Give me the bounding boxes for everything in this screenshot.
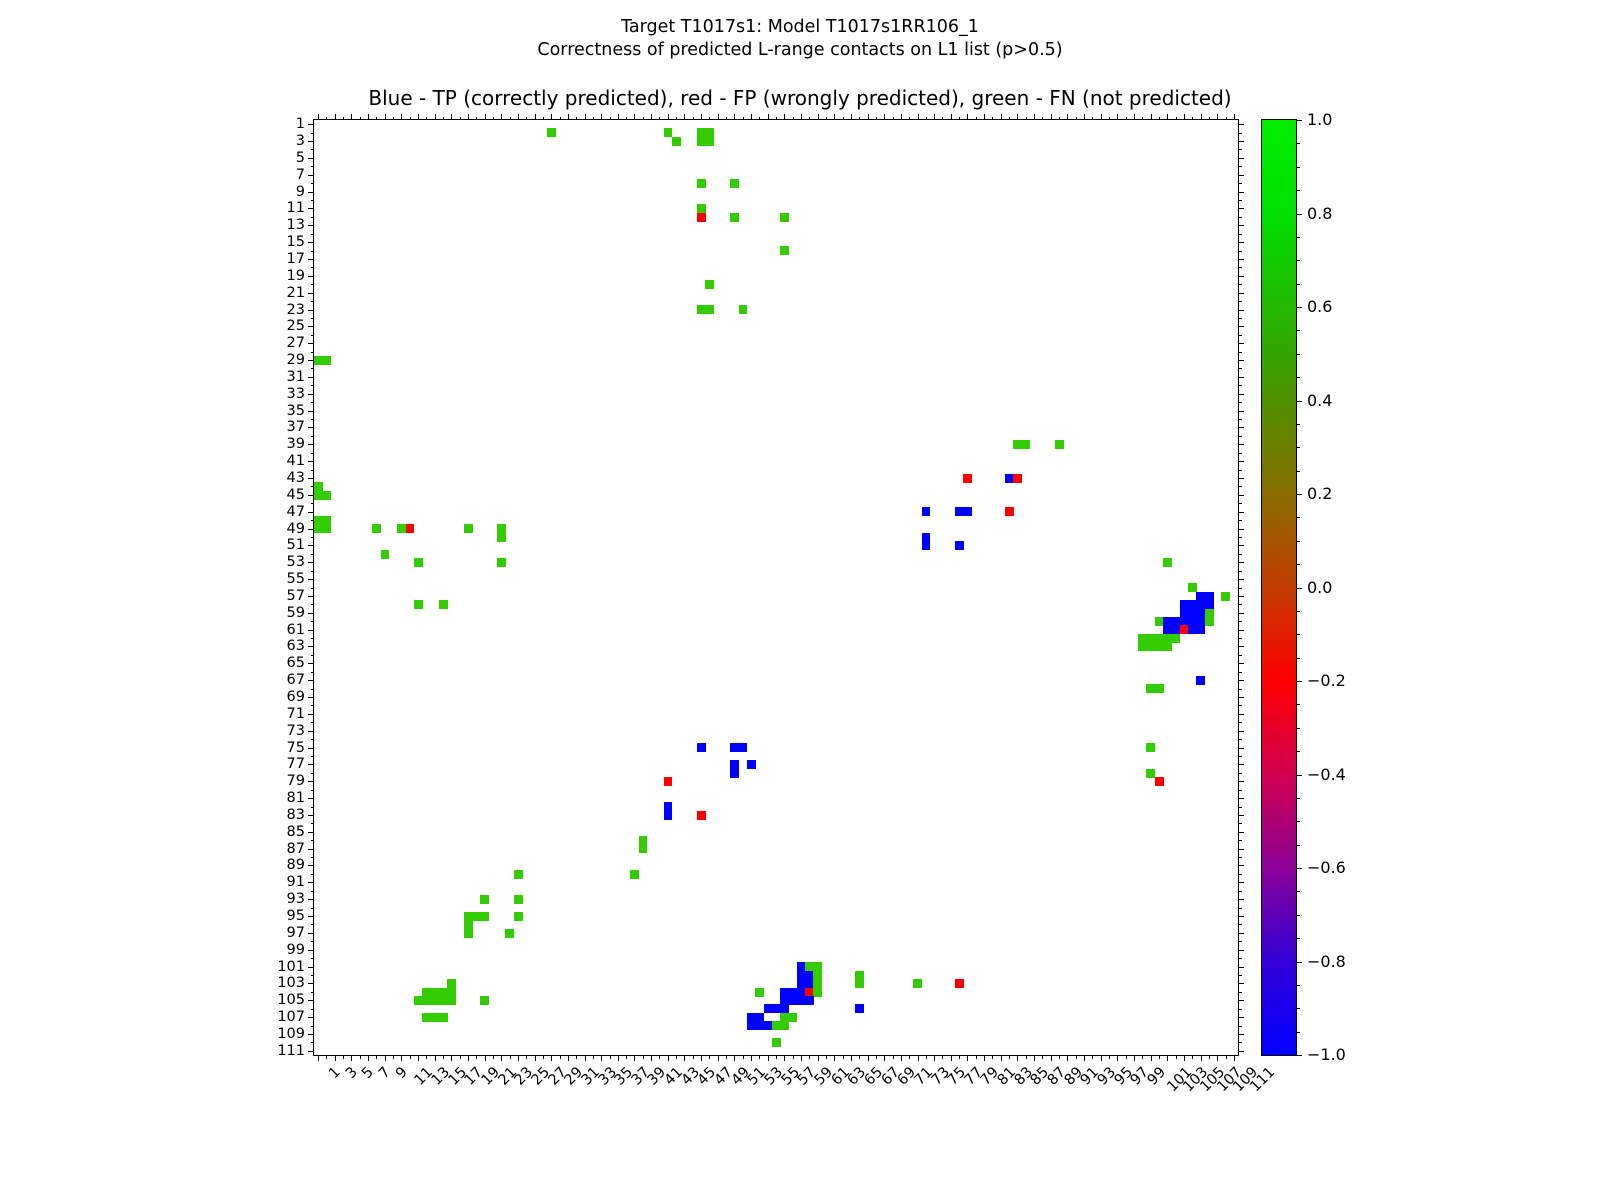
x-tick	[326, 1055, 327, 1059]
y-tick	[311, 807, 315, 808]
y-tick	[311, 537, 315, 538]
y-tick-right	[1238, 815, 1244, 816]
y-tick	[311, 183, 315, 184]
fn-cell	[780, 246, 789, 255]
x-tick	[410, 1055, 411, 1059]
x-tick	[759, 1055, 760, 1059]
y-tick-label: 61	[287, 622, 305, 637]
x-tick-top	[826, 117, 827, 121]
y-tick	[311, 200, 315, 201]
y-tick	[311, 857, 315, 858]
y-tick-label: 67	[287, 673, 305, 688]
colorbar-minor-tick	[1296, 845, 1300, 846]
y-tick	[308, 141, 314, 142]
y-tick-right	[1238, 908, 1242, 909]
y-tick-right	[1238, 385, 1242, 386]
x-tick	[976, 1055, 977, 1059]
tp-cell	[805, 996, 814, 1005]
x-tick	[451, 1055, 452, 1061]
x-tick-top	[543, 117, 544, 121]
y-tick	[308, 849, 314, 850]
y-tick	[311, 1042, 315, 1043]
fn-cell	[322, 356, 331, 365]
x-tick	[485, 1055, 486, 1061]
x-tick	[801, 1055, 802, 1061]
x-tick	[1126, 1055, 1127, 1059]
tp-cell	[955, 541, 964, 550]
fn-cell	[639, 844, 648, 853]
x-tick	[768, 1055, 769, 1061]
x-tick-top	[318, 114, 319, 120]
y-tick	[308, 512, 314, 513]
colorbar-tick	[1296, 775, 1302, 776]
y-tick-label: 5	[296, 151, 305, 166]
x-tick	[718, 1055, 719, 1061]
x-tick-top	[1134, 114, 1135, 120]
x-tick-top	[851, 114, 852, 120]
x-tick	[784, 1055, 785, 1061]
x-tick-top	[343, 117, 344, 121]
y-tick	[308, 158, 314, 159]
x-tick	[726, 1055, 727, 1059]
fn-cell	[855, 979, 864, 988]
x-tick-top	[610, 117, 611, 121]
y-tick	[308, 529, 314, 530]
fn-cell	[697, 179, 706, 188]
y-tick	[311, 722, 315, 723]
y-tick	[311, 419, 315, 420]
x-tick	[868, 1055, 869, 1061]
x-tick-top	[659, 117, 660, 121]
x-tick	[684, 1055, 685, 1061]
x-tick	[1042, 1055, 1043, 1059]
y-tick	[311, 234, 315, 235]
y-tick-right	[1238, 638, 1242, 639]
y-tick-right	[1238, 436, 1242, 437]
y-tick	[311, 790, 315, 791]
y-tick	[311, 638, 315, 639]
colorbar-minor-tick	[1296, 471, 1300, 472]
x-tick	[501, 1055, 502, 1061]
x-tick-top	[443, 117, 444, 121]
x-tick	[926, 1055, 927, 1059]
y-tick-right	[1238, 739, 1242, 740]
y-tick-right	[1238, 470, 1242, 471]
x-tick	[668, 1055, 669, 1061]
y-tick-label: 11	[287, 201, 305, 216]
y-tick-label: 49	[287, 521, 305, 536]
y-tick-right	[1238, 335, 1242, 336]
y-tick	[308, 208, 314, 209]
y-tick-label: 37	[287, 420, 305, 435]
fn-cell	[514, 912, 523, 921]
y-tick	[311, 486, 315, 487]
y-tick	[308, 680, 314, 681]
y-tick	[311, 470, 315, 471]
fn-cell	[322, 524, 331, 533]
x-tick-top	[1092, 117, 1093, 121]
colorbar-minor-tick	[1296, 447, 1300, 448]
x-tick-top	[893, 117, 894, 121]
y-tick-right	[1238, 1051, 1244, 1052]
y-tick-right	[1238, 276, 1244, 277]
y-tick-label: 51	[287, 538, 305, 553]
x-tick-top	[551, 114, 552, 120]
y-tick-right	[1238, 562, 1244, 563]
x-tick	[942, 1055, 943, 1059]
fn-cell	[447, 996, 456, 1005]
y-tick-right	[1238, 807, 1242, 808]
x-tick	[1076, 1055, 1077, 1059]
x-tick-label: 5	[360, 1065, 377, 1082]
colorbar-minor-tick	[1296, 611, 1300, 612]
x-tick-top	[1026, 117, 1027, 121]
colorbar-minor-tick	[1296, 167, 1300, 168]
x-tick	[1017, 1055, 1018, 1061]
y-tick-label: 55	[287, 572, 305, 587]
x-tick	[318, 1055, 319, 1061]
y-tick-right	[1238, 124, 1244, 125]
y-tick-right	[1238, 133, 1242, 134]
fp-cell	[1155, 777, 1164, 786]
y-tick-right	[1238, 975, 1242, 976]
x-tick	[1009, 1055, 1010, 1059]
x-tick	[934, 1055, 935, 1061]
y-tick	[308, 815, 314, 816]
y-tick	[308, 899, 314, 900]
x-tick-top	[1142, 117, 1143, 121]
y-tick	[308, 175, 314, 176]
x-tick	[1067, 1055, 1068, 1061]
fn-cell	[1171, 634, 1180, 643]
y-tick-right	[1238, 326, 1244, 327]
x-tick	[1026, 1055, 1027, 1059]
x-tick	[659, 1055, 660, 1059]
y-tick	[311, 436, 315, 437]
y-tick-label: 73	[287, 723, 305, 738]
x-tick	[1092, 1055, 1093, 1059]
x-tick	[834, 1055, 835, 1061]
y-tick-label: 15	[287, 235, 305, 250]
y-tick-right	[1238, 916, 1244, 917]
y-tick	[311, 672, 315, 673]
x-tick	[1001, 1055, 1002, 1061]
colorbar-tick-label: −0.2	[1307, 673, 1346, 689]
y-tick-label: 107	[277, 1010, 305, 1025]
colorbar-minor-tick	[1296, 377, 1300, 378]
y-tick-label: 35	[287, 403, 305, 418]
y-tick-label: 111	[277, 1044, 305, 1059]
y-tick	[308, 192, 314, 193]
x-tick-top	[668, 114, 669, 120]
y-tick-right	[1238, 1042, 1242, 1043]
x-tick-top	[951, 114, 952, 120]
y-tick	[311, 958, 315, 959]
x-tick-top	[1059, 117, 1060, 121]
contact-map-figure: Target T1017s1: Model T1017s1RR106_1 Cor…	[0, 0, 1600, 1200]
y-tick-right	[1238, 512, 1244, 513]
colorbar-minor-tick	[1296, 143, 1300, 144]
x-tick-top	[759, 117, 760, 121]
y-tick	[311, 655, 315, 656]
y-tick-right	[1238, 781, 1244, 782]
y-tick-right	[1238, 251, 1242, 252]
y-tick-right	[1238, 748, 1244, 749]
x-tick-label: 7	[377, 1065, 394, 1082]
colorbar-tick-label: −0.8	[1307, 954, 1346, 970]
y-tick	[308, 630, 314, 631]
y-tick-right	[1238, 141, 1244, 142]
x-tick-top	[493, 117, 494, 121]
x-tick-top	[376, 117, 377, 121]
y-tick-right	[1238, 891, 1242, 892]
y-tick-label: 13	[287, 218, 305, 233]
y-tick-right	[1238, 697, 1244, 698]
x-tick-top	[468, 114, 469, 120]
fn-cell	[372, 524, 381, 533]
y-tick-right	[1238, 343, 1244, 344]
tp-cell	[855, 1004, 864, 1013]
y-tick-right	[1238, 924, 1242, 925]
y-tick-right	[1238, 368, 1242, 369]
fn-cell	[322, 491, 331, 500]
y-tick-label: 75	[287, 740, 305, 755]
y-tick	[308, 933, 314, 934]
y-tick	[308, 411, 314, 412]
x-tick-top	[876, 117, 877, 121]
colorbar-tick	[1296, 868, 1302, 869]
y-tick-label: 53	[287, 555, 305, 570]
y-tick-right	[1238, 865, 1244, 866]
y-tick-right	[1238, 579, 1244, 580]
x-tick-label: 1	[327, 1065, 344, 1082]
y-tick	[308, 562, 314, 563]
y-tick-label: 7	[296, 168, 305, 183]
y-tick-label: 27	[287, 336, 305, 351]
y-tick-label: 9	[296, 184, 305, 199]
x-tick	[435, 1055, 436, 1061]
fn-cell	[1155, 684, 1164, 693]
x-tick	[809, 1055, 810, 1059]
y-tick-right	[1238, 183, 1242, 184]
x-tick	[776, 1055, 777, 1059]
y-tick-right	[1238, 722, 1242, 723]
fn-cell	[1022, 440, 1031, 449]
fp-cell	[963, 474, 972, 483]
y-tick-label: 87	[287, 841, 305, 856]
colorbar-minor-tick	[1296, 938, 1300, 939]
x-tick-top	[576, 117, 577, 121]
colorbar-minor-tick	[1296, 541, 1300, 542]
y-tick	[308, 967, 314, 968]
y-tick-label: 103	[277, 976, 305, 991]
y-tick	[308, 124, 314, 125]
x-tick-label: 9	[393, 1065, 410, 1082]
colorbar-tick-label: 0.2	[1307, 486, 1332, 502]
tp-cell	[1196, 625, 1205, 634]
y-tick	[311, 318, 315, 319]
x-tick-top	[568, 114, 569, 120]
colorbar-minor-tick	[1296, 891, 1300, 892]
y-tick	[311, 368, 315, 369]
y-tick-right	[1238, 242, 1244, 243]
fn-cell	[772, 1038, 781, 1047]
y-tick-right	[1238, 259, 1244, 260]
y-tick-right	[1238, 731, 1244, 732]
y-tick	[311, 756, 315, 757]
y-tick	[311, 267, 315, 268]
x-tick-top	[526, 117, 527, 121]
colorbar-minor-tick	[1296, 424, 1300, 425]
x-tick-top	[651, 114, 652, 120]
y-tick-right	[1238, 899, 1244, 900]
y-tick-right	[1238, 478, 1244, 479]
y-tick-right	[1238, 604, 1242, 605]
colorbar-tick-label: 1.0	[1307, 112, 1332, 128]
contact-cells-layer	[314, 120, 1238, 1055]
colorbar-minor-tick	[1296, 751, 1300, 752]
colorbar-tick-label: 0.0	[1307, 580, 1332, 596]
x-tick	[560, 1055, 561, 1059]
x-tick	[1142, 1055, 1143, 1059]
y-tick-right	[1238, 756, 1242, 757]
x-tick-top	[718, 114, 719, 120]
x-tick-top	[776, 117, 777, 121]
x-tick-top	[768, 114, 769, 120]
y-tick-label: 29	[287, 353, 305, 368]
y-tick	[311, 284, 315, 285]
y-tick-label: 101	[277, 959, 305, 974]
x-tick-top	[1017, 114, 1018, 120]
fn-cell	[464, 524, 473, 533]
x-tick	[1217, 1055, 1218, 1061]
y-tick	[308, 832, 314, 833]
x-tick-top	[1009, 117, 1010, 121]
fn-cell	[439, 1013, 448, 1022]
fn-cell	[913, 979, 922, 988]
x-tick-top	[1226, 117, 1227, 121]
x-tick	[901, 1055, 902, 1061]
x-tick-top	[701, 114, 702, 120]
x-tick-top	[809, 117, 810, 121]
x-tick-top	[684, 114, 685, 120]
y-tick-label: 31	[287, 370, 305, 385]
x-tick-top	[593, 117, 594, 121]
y-tick	[311, 773, 315, 774]
y-tick	[308, 663, 314, 664]
fn-cell	[788, 1013, 797, 1022]
tp-cell	[963, 507, 972, 516]
y-tick-label: 69	[287, 690, 305, 705]
y-tick	[308, 646, 314, 647]
x-tick	[335, 1055, 336, 1061]
contact-map-plot-area: 1357911131517192123252729313335373941434…	[313, 119, 1239, 1056]
y-tick	[311, 251, 315, 252]
y-tick-right	[1238, 1009, 1242, 1010]
y-tick	[308, 950, 314, 951]
x-tick-top	[734, 114, 735, 120]
x-tick-top	[934, 114, 935, 120]
x-tick	[1101, 1055, 1102, 1061]
tp-cell	[730, 769, 739, 778]
y-tick-label: 91	[287, 875, 305, 890]
figure-title: Target T1017s1: Model T1017s1RR106_1 Cor…	[0, 16, 1600, 62]
y-tick-label: 21	[287, 285, 305, 300]
x-tick	[651, 1055, 652, 1061]
fn-cell	[1163, 558, 1172, 567]
colorbar-tick	[1296, 962, 1302, 963]
x-tick	[1192, 1055, 1193, 1059]
y-tick	[311, 840, 315, 841]
x-tick-top	[393, 117, 394, 121]
x-tick	[876, 1055, 877, 1059]
x-tick-top	[1117, 114, 1118, 120]
y-tick-right	[1238, 520, 1242, 521]
y-tick-right	[1238, 529, 1244, 530]
x-tick-top	[643, 117, 644, 121]
y-tick-right	[1238, 689, 1242, 690]
y-tick	[308, 427, 314, 428]
y-tick-right	[1238, 823, 1242, 824]
y-tick-right	[1238, 453, 1242, 454]
colorbar-minor-tick	[1296, 985, 1300, 986]
colorbar-minor-tick	[1296, 728, 1300, 729]
x-tick-top	[751, 114, 752, 120]
y-tick-right	[1238, 646, 1244, 647]
x-tick-top	[368, 114, 369, 120]
fn-cell	[381, 550, 390, 559]
y-tick-right	[1238, 267, 1242, 268]
y-tick-right	[1238, 419, 1242, 420]
y-tick	[308, 764, 314, 765]
y-tick-right	[1238, 158, 1244, 159]
y-tick-right	[1238, 217, 1242, 218]
colorbar-minor-tick	[1296, 658, 1300, 659]
fn-cell	[730, 179, 739, 188]
y-tick	[311, 571, 315, 572]
x-tick-top	[1151, 114, 1152, 120]
colorbar-minor-tick	[1296, 330, 1300, 331]
y-tick-right	[1238, 832, 1244, 833]
y-tick-right	[1238, 149, 1242, 150]
x-tick	[1109, 1055, 1110, 1059]
x-tick-top	[868, 114, 869, 120]
title-line-2: Correctness of predicted L-range contact…	[0, 39, 1600, 62]
x-tick-top	[626, 117, 627, 121]
y-tick	[308, 697, 314, 698]
x-tick	[1159, 1055, 1160, 1059]
x-tick	[1134, 1055, 1135, 1061]
x-tick	[1201, 1055, 1202, 1061]
y-tick-label: 1	[296, 117, 305, 132]
y-tick	[308, 461, 314, 462]
y-tick	[308, 798, 314, 799]
colorbar-minor-tick	[1296, 354, 1300, 355]
fn-cell	[439, 600, 448, 609]
x-tick	[1059, 1055, 1060, 1059]
x-tick-top	[1051, 114, 1052, 120]
colorbar: 1.00.80.60.40.20.0−0.2−0.4−0.6−0.8−1.0	[1261, 119, 1297, 1056]
fn-cell	[739, 305, 748, 314]
y-tick-right	[1238, 293, 1244, 294]
x-tick	[951, 1055, 952, 1061]
fn-cell	[480, 895, 489, 904]
y-tick-right	[1238, 301, 1242, 302]
y-tick	[311, 301, 315, 302]
fp-cell	[406, 524, 415, 533]
x-tick-top	[435, 114, 436, 120]
y-tick-right	[1238, 857, 1242, 858]
